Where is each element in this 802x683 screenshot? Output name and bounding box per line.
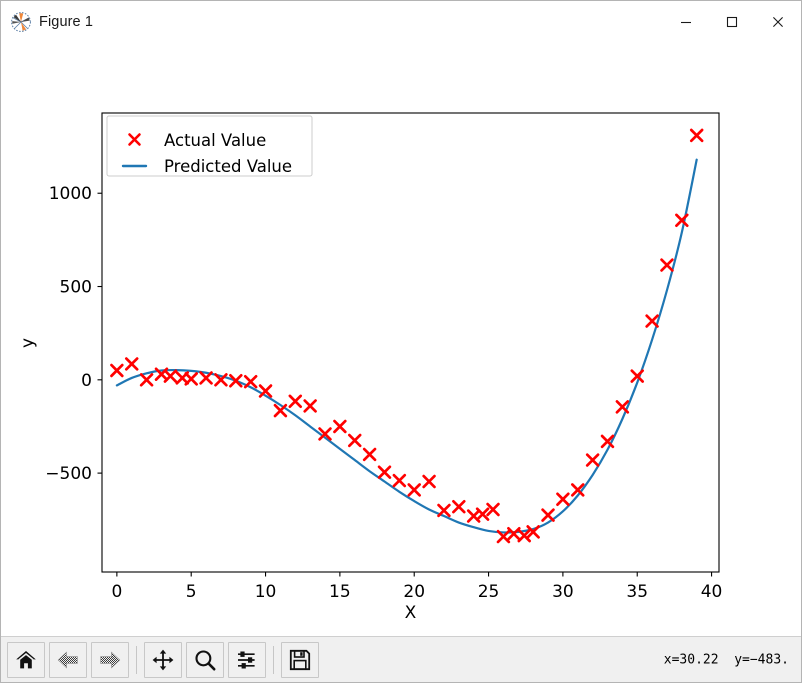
- toolbar-separator-1: [136, 646, 137, 674]
- home-button[interactable]: [7, 642, 45, 678]
- minimize-button[interactable]: [663, 1, 709, 42]
- y-tick-label: −500: [45, 464, 92, 484]
- x-tick-label: 20: [403, 582, 425, 602]
- coordinate-readout: x=30.22 y=−483.: [664, 652, 789, 667]
- pan-button[interactable]: [144, 642, 182, 678]
- x-tick-label: 35: [626, 582, 648, 602]
- axes-frame: [102, 113, 719, 572]
- y-tick-label: 1000: [49, 184, 92, 204]
- x-tick-label: 25: [478, 582, 500, 602]
- y-tick-label: 500: [60, 278, 92, 298]
- legend: Actual Value Predicted Value: [107, 116, 312, 176]
- figure-window: Figure 1 0510152025303540 −50005001000: [0, 0, 802, 683]
- save-button[interactable]: [281, 642, 319, 678]
- y-tick-label: 0: [81, 371, 92, 391]
- x-tick-label: 0: [111, 582, 122, 602]
- x-tick-label: 40: [701, 582, 723, 602]
- x-tick-label: 15: [329, 582, 351, 602]
- maximize-button[interactable]: [709, 1, 755, 42]
- navigation-toolbar: x=30.22 y=−483.: [1, 636, 801, 682]
- zoom-button[interactable]: [186, 642, 224, 678]
- matplotlib-axes[interactable]: 0510152025303540 −50005001000 X y Actual…: [1, 43, 801, 636]
- window-title: Figure 1: [39, 14, 93, 30]
- figure-canvas[interactable]: 0510152025303540 −50005001000 X y Actual…: [1, 43, 801, 636]
- legend-label-predicted: Predicted Value: [164, 157, 292, 176]
- forward-button[interactable]: [91, 642, 129, 678]
- legend-label-actual: Actual Value: [164, 131, 266, 150]
- toolbar-separator-2: [273, 646, 274, 674]
- y-axis-label: y: [18, 338, 38, 348]
- back-button[interactable]: [49, 642, 87, 678]
- matplotlib-icon: [10, 11, 32, 33]
- close-button[interactable]: [755, 1, 801, 42]
- title-bar: Figure 1: [1, 1, 801, 43]
- configure-subplots-button[interactable]: [228, 642, 266, 678]
- x-tick-label: 5: [186, 582, 197, 602]
- window-controls: [663, 1, 801, 42]
- x-axis-label: X: [405, 603, 417, 623]
- x-tick-label: 10: [255, 582, 277, 602]
- x-tick-label: 30: [552, 582, 574, 602]
